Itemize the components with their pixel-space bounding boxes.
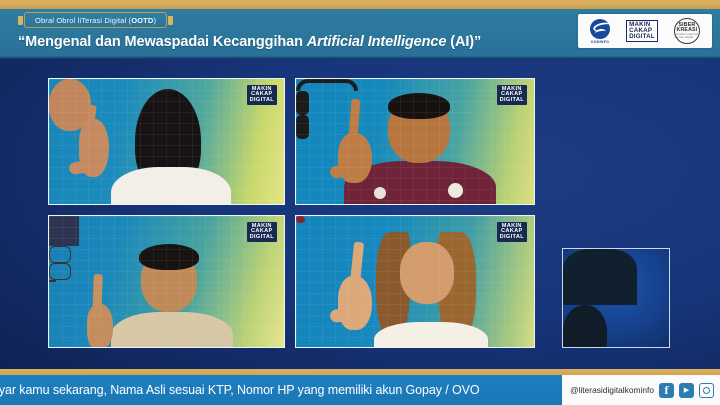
figure-hair [139,244,199,270]
webinar-stage: Obral Obrol liTerasi Digital (OOTD) “Men… [0,0,720,405]
title-segment-2: (AI)” [446,34,481,50]
program-badge-acronym: OOTD [131,16,153,25]
participant-figure [296,216,305,223]
video-tile[interactable]: MAKIN CAKAP DIGITAL [295,78,535,205]
watermark-line-3: DIGITAL [250,98,274,104]
figure-nail-polish [296,216,305,223]
logo-siber-kreasi: SIBER KREASI gerakan nasional literasi d… [674,18,700,44]
watermark-badge: MAKIN CAKAP DIGITAL [497,222,527,242]
siber-kreasi-circle-icon: SIBER KREASI gerakan nasional literasi d… [674,18,700,44]
participant-figure [563,249,637,348]
program-badge-suffix: ) [153,16,156,25]
watermark-line-3: DIGITAL [500,98,524,104]
title-text: “Mengenal dan Mewaspadai Kecanggihan Art… [18,34,481,50]
page-title: “Mengenal dan Mewaspadai Kecanggihan Art… [18,30,538,54]
participant-figure [49,216,79,282]
instagram-lens [703,387,710,394]
program-badge-label: Obral Obrol liTerasi Digital (OOTD) [35,16,156,25]
figure-finger-thumb [330,164,367,178]
ticker-text: ayar kamu sekarang, Nama Asli sesuai KTP… [0,383,479,397]
logo-makin-cakap-digital: MAKIN CAKAP DIGITAL [626,20,658,43]
figure-hand [338,276,372,330]
watermark-badge: MAKIN CAKAP DIGITAL [247,222,277,242]
facebook-icon[interactable]: f [659,383,674,398]
badge-tab-left [18,16,23,25]
video-tile[interactable]: MAKIN CAKAP DIGITAL [48,215,285,348]
youtube-glyph: ▶ [684,387,689,394]
social-panel: @literasidigitalkominfo f ▶ [562,375,720,405]
headphone-band-icon [296,79,358,91]
figure-torso [374,322,488,348]
program-badge: Obral Obrol liTerasi Digital (OOTD) [18,12,173,28]
mcd-line-3: DIGITAL [629,34,655,40]
figure-inner-shirt [49,216,79,246]
title-segment-1: “Mengenal dan Mewaspadai Kecanggihan [18,34,307,50]
figure-torso [111,312,233,348]
social-handle: @literasidigitalkominfo [570,385,654,395]
headphone-earcup-left [296,91,309,115]
participant-figure [49,79,91,131]
figure-torso [563,249,637,305]
instagram-icon[interactable] [699,383,714,398]
figure-shirt-emblem [448,183,463,198]
watermark-line-3: DIGITAL [500,235,524,241]
headphone-earcup-right [296,115,309,139]
title-segment-italic: Artificial Intelligence [307,34,447,50]
figure-hijab [563,305,607,348]
facebook-glyph: f [665,384,669,396]
top-gold-bar [0,0,720,9]
figure-finger-index [92,274,103,318]
youtube-icon[interactable]: ▶ [679,383,694,398]
program-badge-pill: Obral Obrol liTerasi Digital (OOTD) [24,12,167,28]
logo-kominfo: KOMINFO [590,19,610,44]
video-tile-interpreter[interactable] [562,248,670,348]
video-tile[interactable]: MAKIN CAKAP DIGITAL [48,78,285,205]
participant-figure [296,79,358,139]
figure-shirt-emblem [374,187,386,199]
mcd-logo-box: MAKIN CAKAP DIGITAL [626,20,658,43]
glasses-bridge [49,280,56,282]
figure-face [400,242,454,304]
watermark-line-3: DIGITAL [250,235,274,241]
siber-subtitle: gerakan nasional literasi digital [675,34,699,39]
sponsor-logo-strip: KOMINFO MAKIN CAKAP DIGITAL SIBER KREASI… [578,14,712,48]
program-badge-prefix: Obral Obrol liTerasi Digital ( [35,16,131,25]
glasses-lens-right [49,263,71,280]
glasses-lens-left [49,246,71,263]
kominfo-label: KOMINFO [591,40,609,44]
footer-ticker-bar: ayar kamu sekarang, Nama Asli sesuai KTP… [0,375,720,405]
watermark-badge: MAKIN CAKAP DIGITAL [497,85,527,105]
video-tile[interactable]: MAKIN CAKAP DIGITAL [295,215,535,348]
watermark-badge: MAKIN CAKAP DIGITAL [247,85,277,105]
figure-torso [111,167,231,205]
header-divider [0,56,720,59]
figure-hair [388,93,450,119]
kominfo-swirl-icon [590,19,610,39]
badge-tab-right [168,16,173,25]
